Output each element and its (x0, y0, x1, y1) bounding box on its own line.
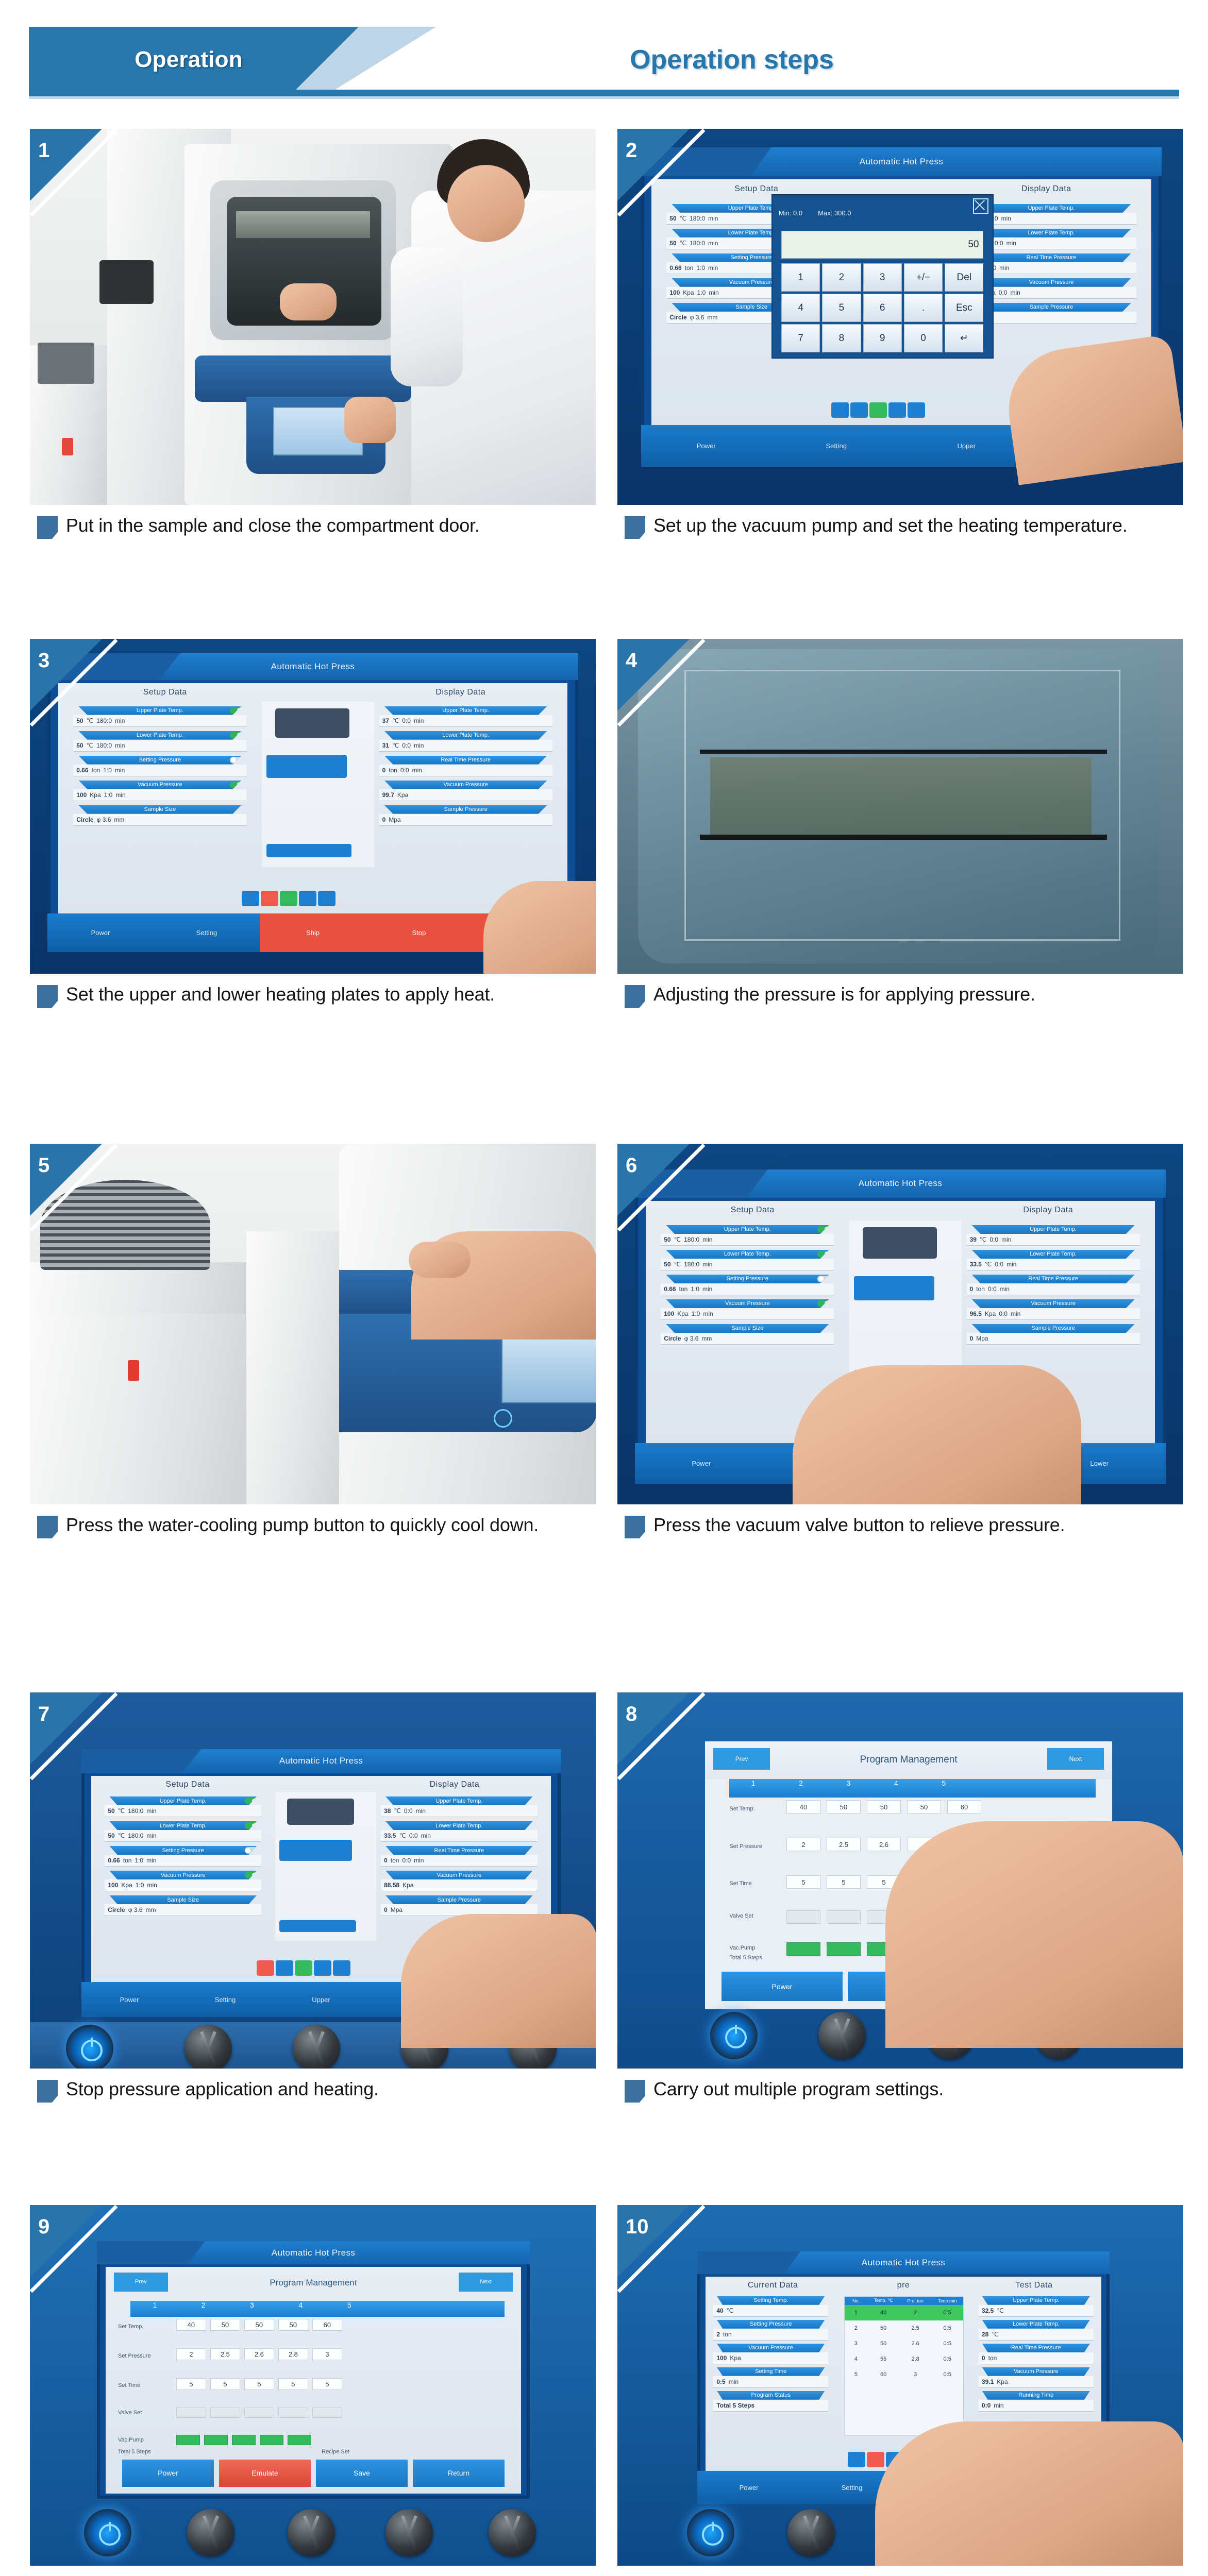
hmi-icon-row-3[interactable] (242, 891, 335, 906)
footer-power[interactable]: Power (47, 929, 154, 937)
row-label-set-pressure: Set Pressure (729, 1843, 762, 1850)
pressure-icon[interactable] (908, 402, 925, 418)
footer-setting[interactable]: Setting (177, 1996, 273, 2004)
step-card-2: Automatic Hot Press Setup Data Display D… (617, 129, 1183, 545)
step-photo-7: Automatic Hot Press Setup Data Display D… (30, 1692, 596, 2069)
program-columns-header: 1 2 3 4 5 (130, 2301, 505, 2317)
caption-bullet-icon (37, 516, 58, 539)
control-knob[interactable] (288, 2509, 335, 2556)
valve-icon[interactable] (314, 1960, 331, 1976)
step-photo-5: 5 (30, 1144, 596, 1504)
footer-power[interactable]: Power (641, 442, 771, 450)
prev-button[interactable]: Prev (114, 2273, 168, 2292)
col-4[interactable]: 4 (276, 2301, 325, 2317)
row-set-temp[interactable]: 4050505060 (176, 2319, 342, 2331)
caption-text: Press the vacuum valve button to relieve… (653, 1513, 1183, 1537)
total-steps-label: Total 5 Steps (118, 2449, 151, 2455)
hmi-title-text: Automatic Hot Press (272, 2248, 356, 2258)
chart-icon[interactable] (280, 891, 297, 906)
pressure-icon[interactable] (333, 1960, 350, 1976)
numeric-keypad[interactable]: Min: 0.0 Max: 300.0 50 1 2 3 +/− (771, 194, 994, 359)
key-6[interactable]: 6 (863, 294, 902, 322)
row-label-valve-set: Valve Set (118, 2410, 142, 2416)
control-knob[interactable] (787, 2509, 835, 2556)
hmi-title-text: Automatic Hot Press (860, 157, 944, 167)
hmi-title-text: Automatic Hot Press (279, 1756, 363, 1766)
step-photo-6: Automatic Hot Press Setup Data Display D… (617, 1144, 1183, 1504)
footer-power[interactable]: Power (635, 1460, 768, 1467)
test-data-header: Test Data (975, 2281, 1093, 2290)
footer-power[interactable]: Power (81, 1996, 177, 2004)
program-steps-table[interactable]: No. Temp. ℃ Pre. ton Time min 1 40 2 0:5 (844, 2296, 964, 2436)
valve-icon[interactable] (299, 891, 316, 906)
row-vac-pump[interactable] (176, 2435, 311, 2445)
hmi-screen-9[interactable]: Automatic Hot Press Program Management P… (97, 2241, 530, 2499)
key-enter[interactable]: ↵ (945, 324, 983, 352)
footer-setting[interactable]: Setting (154, 929, 260, 937)
program-management-title: Program Management (860, 1754, 957, 1766)
table-row[interactable]: 2 50 2.5 0:5 (845, 2320, 963, 2336)
step-caption-10: Enter the advanced settings interface an… (617, 2574, 1183, 2576)
step-caption-9: Execute multiple programs. (30, 2574, 596, 2576)
footer-save[interactable]: Save (316, 2460, 408, 2487)
table-row[interactable]: 4 55 2.8 0:5 (845, 2351, 963, 2367)
vacuum-pump-icon[interactable] (257, 1960, 274, 1976)
footer-emulate[interactable]: Emulate (219, 2460, 311, 2487)
step-photo-2: Automatic Hot Press Setup Data Display D… (617, 129, 1183, 505)
hmi-icon-row-2[interactable] (831, 402, 925, 418)
row-label-set-pressure: Set Pressure (118, 2353, 151, 2359)
step-photo-3: Automatic Hot Press Setup Data Display D… (30, 639, 596, 974)
program-columns-header: 1 2 3 4 5 (729, 1779, 1096, 1798)
footer-power[interactable]: Power (722, 1972, 843, 2001)
test-fields-10: Upper Plate Temp. 32.5℃ Lower Plate Temp… (979, 2296, 1094, 2412)
hmi-title-text: Automatic Hot Press (271, 662, 355, 672)
display-fields-6: Upper Plate Temp. 39℃0:0min Lower Plate … (967, 1225, 1140, 1345)
keypad-max-label: Max: 300.0 (818, 209, 851, 217)
step-photo-8: Program Management Prev Next 1 2 3 4 5 S… (617, 1692, 1183, 2069)
key-1[interactable]: 1 (781, 263, 820, 292)
caption-text: Press the water-cooling pump button to q… (66, 1513, 596, 1537)
step-card-3: Automatic Hot Press Setup Data Display D… (30, 639, 596, 1014)
key-8[interactable]: 8 (822, 324, 861, 352)
key-del[interactable]: Del (945, 263, 983, 292)
step-caption-5: Press the water-cooling pump button to q… (30, 1513, 596, 1545)
key-9[interactable]: 9 (863, 324, 902, 352)
keypad-grid[interactable]: 1 2 3 +/− Del 4 5 6 . Esc (781, 263, 984, 352)
key-0[interactable]: 0 (904, 324, 943, 352)
caption-bullet-icon (37, 2080, 58, 2103)
control-knob[interactable] (818, 2012, 866, 2059)
footer-ship[interactable]: Ship (260, 913, 366, 952)
key-esc[interactable]: Esc (945, 294, 983, 322)
next-button[interactable]: Next (1047, 1748, 1104, 1770)
caption-text: Set up the vacuum pump and set the heati… (653, 513, 1183, 538)
col-5[interactable]: 5 (920, 1779, 967, 1798)
caption-text: Stop pressure application and heating. (66, 2077, 596, 2102)
col-4[interactable]: 4 (873, 1779, 920, 1798)
step-card-5: 5 Press the water-cooling pump button to… (30, 1144, 596, 1545)
setup-fields-6: Upper Plate Temp. 50℃180:0min Lower Plat… (661, 1225, 834, 1345)
step-caption-7: Stop pressure application and heating. (30, 2077, 596, 2109)
caption-text: Execute multiple programs. (66, 2574, 596, 2576)
heater-icon[interactable] (850, 402, 868, 418)
control-knob[interactable] (489, 2509, 536, 2556)
step-card-8: Program Management Prev Next 1 2 3 4 5 S… (617, 1692, 1183, 2109)
vacuum-pump-icon[interactable] (831, 402, 849, 418)
step-caption-6: Press the vacuum valve button to relieve… (617, 1513, 1183, 1545)
row-label-valve-set: Valve Set (729, 1913, 753, 1919)
control-knob[interactable] (293, 2025, 340, 2069)
keypad-min-label: Min: 0.0 (779, 209, 802, 217)
row-label-set-time: Set Time (118, 2382, 140, 2388)
close-icon[interactable] (973, 198, 988, 214)
col-2[interactable]: 2 (179, 2301, 228, 2317)
total-steps-label: Total 5 Steps (729, 1955, 762, 1961)
key-3[interactable]: 3 (863, 263, 902, 292)
step-caption-8: Carry out multiple program settings. (617, 2077, 1183, 2109)
vacuum-pump-icon[interactable] (242, 891, 259, 906)
footer-return[interactable]: Return (413, 2460, 505, 2487)
footer-power[interactable]: Power (697, 2484, 800, 2492)
display-data-header: Display Data (372, 1780, 537, 1789)
prev-button[interactable]: Prev (713, 1748, 770, 1770)
operation-tab-label: Operation (29, 27, 348, 93)
table-row[interactable]: 1 40 2 0:5 (845, 2305, 963, 2320)
step-card-1: 1 Put in the sample and close the compar… (30, 129, 596, 545)
pressure-icon[interactable] (318, 891, 335, 906)
current-data-header: Current Data (713, 2281, 832, 2290)
program-management-subtitle: Program Management (270, 2278, 357, 2288)
row-label-vac-pump: Vac.Pump (118, 2437, 144, 2443)
caption-text: Adjusting the pressure is for applying p… (653, 982, 1183, 1007)
power-knob[interactable] (687, 2509, 734, 2556)
chart-icon[interactable] (869, 402, 887, 418)
step-caption-4: Adjusting the pressure is for applying p… (617, 982, 1183, 1014)
key-2[interactable]: 2 (822, 263, 861, 292)
machine-schematic (275, 1792, 376, 1941)
power-knob[interactable] (710, 2012, 758, 2059)
valve-icon[interactable] (888, 402, 906, 418)
hmi-title-bar: Automatic Hot Press (641, 147, 1162, 176)
header-rule (29, 90, 1179, 96)
footer-setting[interactable]: Setting (771, 442, 902, 450)
col-5[interactable]: 5 (325, 2301, 374, 2317)
footer-upper[interactable]: Upper (273, 1996, 369, 2004)
control-knob[interactable] (184, 2025, 232, 2069)
hmi-title-text: Automatic Hot Press (859, 1178, 943, 1189)
caption-bullet-icon (625, 516, 645, 539)
col-2[interactable]: 2 (777, 1779, 825, 1798)
key-7[interactable]: 7 (781, 324, 820, 352)
caption-bullet-icon (37, 1516, 58, 1538)
setup-data-header: Setup Data (661, 1206, 844, 1215)
step-caption-3: Set the upper and lower heating plates t… (30, 982, 596, 1014)
key-5[interactable]: 5 (822, 294, 861, 322)
caption-bullet-icon (625, 985, 645, 1008)
footer-power[interactable]: Power (122, 2460, 214, 2487)
step-caption-1: Put in the sample and close the compartm… (30, 513, 596, 545)
key-plusminus[interactable]: +/− (904, 263, 943, 292)
caption-text: Enter the advanced settings interface an… (653, 2574, 1183, 2576)
hmi-icon-row-7[interactable] (257, 1960, 350, 1976)
vacuum-pump-icon[interactable] (848, 2452, 865, 2467)
display-fields-3: Upper Plate Temp. 37℃0:0min Lower Plate … (379, 706, 552, 826)
row-label-set-time: Set Time (729, 1880, 751, 1887)
chart-icon[interactable] (295, 1960, 312, 1976)
row-label-set-temp: Set Temp. (118, 2324, 143, 2330)
caption-text: Put in the sample and close the compartm… (66, 513, 596, 538)
setup-data-header: Setup Data (73, 688, 257, 697)
col-3[interactable]: 3 (228, 2301, 276, 2317)
page-title: Operation steps (423, 36, 1041, 83)
keypad-entry-display[interactable]: 50 (781, 231, 984, 259)
setup-data-header: Setup Data (105, 1780, 270, 1789)
step-photo-1: 1 (30, 129, 596, 505)
caption-bullet-icon (625, 2080, 645, 2103)
col-1[interactable]: 1 (729, 1779, 777, 1798)
step-photo-9: Automatic Hot Press Program Management P… (30, 2205, 596, 2566)
step-card-9: Automatic Hot Press Program Management P… (30, 2205, 596, 2576)
row-set-time[interactable]: 55555 (176, 2378, 342, 2390)
display-fields-7: Upper Plate Temp. 38℃0:0min Lower Plate … (381, 1797, 538, 1916)
row-set-temp[interactable]: 4050505060 (786, 1800, 981, 1814)
caption-text: Carry out multiple program settings. (653, 2077, 1183, 2102)
col-1[interactable]: 1 (130, 2301, 179, 2317)
control-knob[interactable] (187, 2509, 234, 2556)
machine-schematic (262, 702, 374, 868)
setup-data-header: Setup Data (666, 184, 846, 194)
recipe-set-label: Recipe Set (322, 2449, 349, 2455)
heater-icon[interactable] (867, 2452, 884, 2467)
step-photo-10: Automatic Hot Press Current Data pre Tes… (617, 2205, 1183, 2566)
power-knob[interactable] (84, 2509, 131, 2556)
hmi-title-text: Automatic Hot Press (862, 2258, 946, 2268)
current-fields-10: Setting Temp. 40℃ Setting Pressure 2ton … (713, 2296, 828, 2412)
caption-text: Set the upper and lower heating plates t… (66, 982, 596, 1007)
key-dot[interactable]: . (904, 294, 943, 322)
power-knob[interactable] (66, 2025, 113, 2069)
table-row[interactable]: 5 60 3 0:5 (845, 2367, 963, 2382)
heater-icon[interactable] (261, 891, 278, 906)
footer-upper[interactable]: Upper (901, 442, 1032, 450)
step-card-6: Automatic Hot Press Setup Data Display D… (617, 1144, 1183, 1545)
row-label-set-temp: Set Temp. (729, 1806, 754, 1812)
footer-stop[interactable]: Stop (366, 913, 472, 952)
program-footer-9[interactable]: Power Emulate Save Return (122, 2460, 505, 2487)
row-valve-set[interactable] (176, 2408, 342, 2418)
setup-fields-3: Upper Plate Temp. 50℃180:0min Lower Plat… (73, 706, 246, 826)
control-knob[interactable] (385, 2509, 433, 2556)
col-3[interactable]: 3 (825, 1779, 872, 1798)
caption-bullet-icon (625, 1516, 645, 1538)
key-4[interactable]: 4 (781, 294, 820, 322)
step-card-4: 4 Adjusting the pressure is for applying… (617, 639, 1183, 1014)
step-photo-4: 4 (617, 639, 1183, 974)
pre-header: pre (848, 2281, 959, 2290)
row-set-pressure[interactable]: 22.52.62.83 (176, 2348, 342, 2360)
next-button[interactable]: Next (459, 2273, 513, 2292)
step-card-10: Automatic Hot Press Current Data pre Tes… (617, 2205, 1183, 2576)
page-header: Operation Operation steps (0, 27, 1208, 109)
display-data-header: Display Data (957, 1206, 1140, 1215)
table-row[interactable]: 3 50 2.6 0:5 (845, 2336, 963, 2351)
row-label-vac-pump: Vac.Pump (729, 1945, 755, 1951)
setup-fields-7: Upper Plate Temp. 50℃180:0min Lower Plat… (105, 1797, 261, 1916)
display-data-header: Display Data (957, 184, 1136, 194)
heater-icon[interactable] (276, 1960, 293, 1976)
header-rule-shadow (29, 96, 1179, 99)
display-data-header: Display Data (369, 688, 552, 697)
step-card-7: Automatic Hot Press Setup Data Display D… (30, 1692, 596, 2109)
step-caption-2: Set up the vacuum pump and set the heati… (617, 513, 1183, 545)
caption-bullet-icon (37, 985, 58, 1008)
